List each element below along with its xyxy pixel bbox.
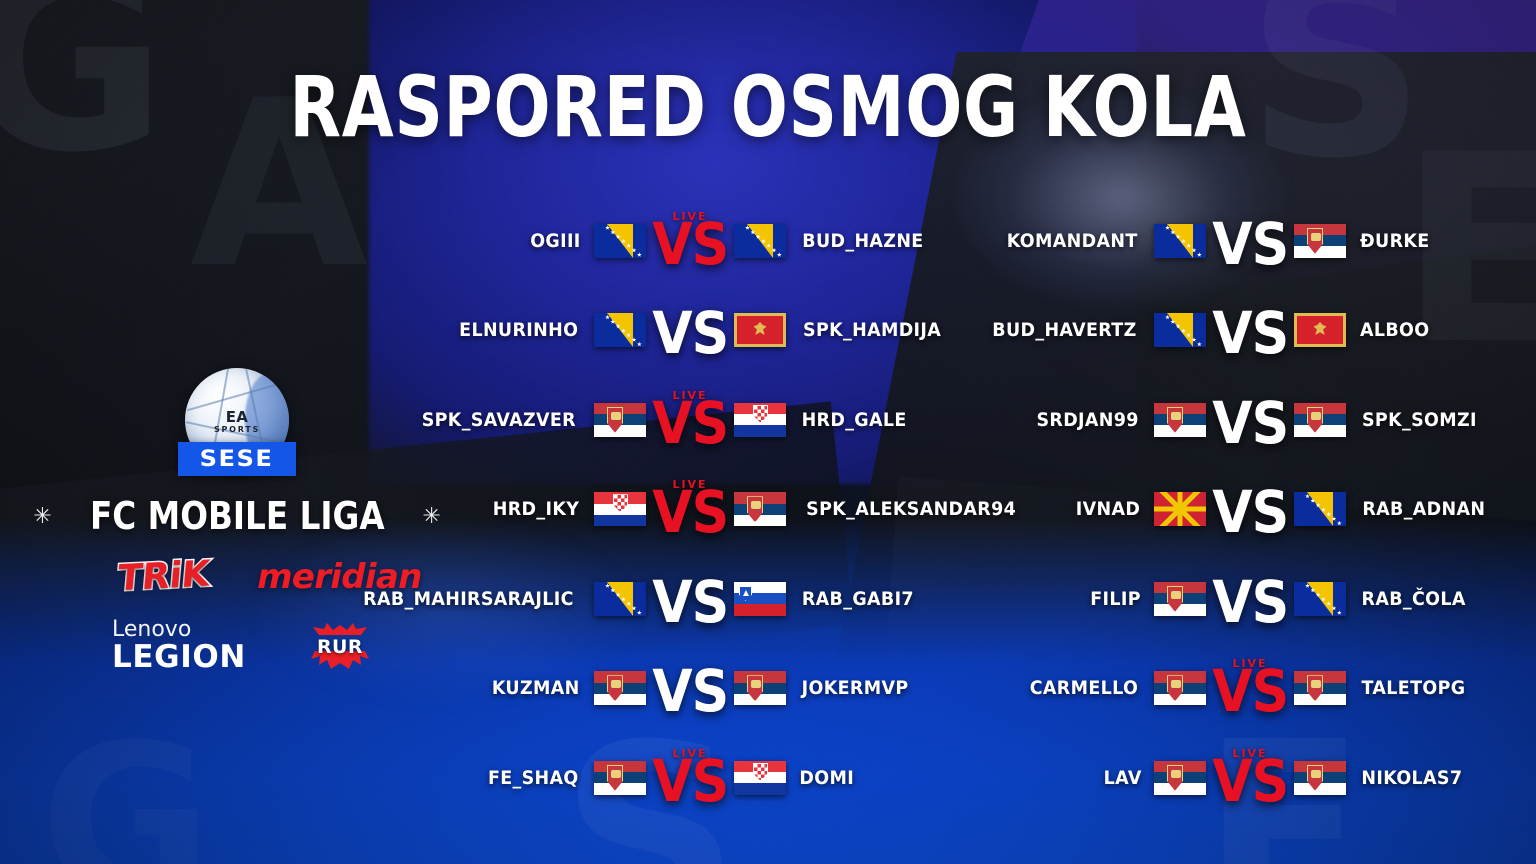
player-name: JOKERMVP <box>802 677 909 699</box>
versus-label: VS <box>1212 486 1288 539</box>
versus-label: VS <box>652 665 728 718</box>
flag-serbia-icon <box>734 492 786 526</box>
player-name: IVNAD <box>1076 498 1140 520</box>
versus-label: VS <box>652 397 728 450</box>
match-row[interactable]: FILIPLIVEVSRAB_ČOLA <box>990 554 1510 644</box>
flag-north-macedonia-icon <box>1154 492 1206 526</box>
match-side-away: SPK_SOMZI <box>1294 403 1510 437</box>
player-name: CARMELLO <box>1030 677 1138 699</box>
player-name: OGIII <box>530 230 580 252</box>
flag-serbia-icon <box>594 761 646 795</box>
versus-label: VS <box>652 486 728 539</box>
player-name: ĐURKE <box>1360 230 1430 252</box>
match-side-away: HRD_GALE <box>734 403 950 437</box>
flag-serbia-icon <box>1154 582 1206 616</box>
match-side-home: CARMELLO <box>990 671 1206 705</box>
ea-sports-subtext: SPORTS <box>185 426 289 434</box>
match-row[interactable]: FE_SHAQLIVEVSDOMI <box>430 733 950 823</box>
match-side-home: KUZMAN <box>430 671 646 705</box>
match-column-right: KOMANDANTLIVEVSĐURKEBUD_HAVERTZLIVEVSALB… <box>990 196 1510 823</box>
match-side-away: RAB_GABI7 <box>734 582 950 616</box>
flag-serbia-icon <box>594 403 646 437</box>
match-side-away: TALETOPG <box>1294 671 1510 705</box>
rur-wordmark: RUR <box>317 636 363 658</box>
player-name: NIKOLAS7 <box>1361 767 1462 789</box>
sponsor-lenovo-legion-logo: Lenovo LEGION <box>112 619 246 674</box>
player-name: BUD_HAZNE <box>802 230 923 252</box>
match-row[interactable]: HRD_IKYLIVEVSSPK_ALEKSANDAR94 <box>430 465 950 555</box>
ea-logo: EA SPORTS <box>185 410 289 434</box>
flag-bosnia-icon <box>594 582 646 616</box>
ea-logo-text: EA <box>226 408 248 426</box>
match-side-away: ĐURKE <box>1294 224 1510 258</box>
match-side-home: HRD_IKY <box>430 492 646 526</box>
versus-block: LIVEVS <box>646 748 734 808</box>
match-row[interactable]: KOMANDANTLIVEVSĐURKE <box>990 196 1510 286</box>
player-name: DOMI <box>799 767 854 789</box>
ea-sports-ball-icon: EA SPORTS SESE <box>185 368 289 472</box>
versus-label: VS <box>1212 665 1288 718</box>
player-name: KUZMAN <box>491 677 579 699</box>
match-side-home: BUD_HAVERTZ <box>990 313 1206 347</box>
match-side-home: RAB_MAHIRSARAJLIC <box>430 582 646 616</box>
versus-block: LIVEVS <box>646 300 734 360</box>
flag-bosnia-icon <box>1154 224 1206 258</box>
match-row[interactable]: CARMELLOLIVEVSTALETOPG <box>990 644 1510 734</box>
sponsor-block: TRiK meridian Lenovo LEGION RUR <box>100 556 420 674</box>
match-row[interactable]: OGIIILIVEVSBUD_HAZNE <box>430 196 950 286</box>
match-side-home: FE_SHAQ <box>430 761 646 795</box>
versus-block: LIVEVS <box>1206 390 1294 450</box>
match-side-home: FILIP <box>990 582 1206 616</box>
versus-block: LIVEVS <box>1206 569 1294 629</box>
match-side-away: NIKOLAS7 <box>1294 761 1510 795</box>
flag-bosnia-icon <box>594 313 646 347</box>
versus-block: LIVEVS <box>646 390 734 450</box>
match-side-away: RAB_ČOLA <box>1294 582 1510 616</box>
flag-bosnia-icon <box>1294 492 1346 526</box>
flag-serbia-icon <box>1294 761 1346 795</box>
flag-croatia-icon <box>594 492 646 526</box>
league-name-row: ✳ FC MOBILE LIGA ✳ <box>42 494 432 538</box>
player-name: ELNURINHO <box>459 319 578 341</box>
match-row[interactable]: BUD_HAVERTZLIVEVSALBOO <box>990 286 1510 376</box>
league-name: FC MOBILE LIGA <box>90 494 385 538</box>
versus-block: LIVEVS <box>1206 211 1294 271</box>
versus-block: LIVEVS <box>1206 658 1294 718</box>
player-name: FILIP <box>1090 588 1141 610</box>
match-row[interactable]: LAVLIVEVSNIKOLAS7 <box>990 733 1510 823</box>
player-name: RAB_MAHIRSARAJLIC <box>363 588 574 610</box>
flag-montenegro-icon <box>1294 313 1346 347</box>
player-name: RAB_ADNAN <box>1362 498 1485 520</box>
flag-serbia-icon <box>1154 761 1206 795</box>
player-name: SPK_ALEKSANDAR94 <box>806 498 1016 520</box>
match-row[interactable]: IVNADLIVEVSRAB_ADNAN <box>990 465 1510 555</box>
player-name: HRD_IKY <box>493 498 579 520</box>
match-side-away: JOKERMVP <box>734 671 950 705</box>
versus-label: VS <box>652 576 728 629</box>
versus-label: VS <box>1212 218 1288 271</box>
league-logo-block: EA SPORTS SESE ✳ FC MOBILE LIGA ✳ <box>42 368 432 538</box>
match-side-away: RAB_ADNAN <box>1294 492 1510 526</box>
match-row[interactable]: KUZMANLIVEVSJOKERMVP <box>430 644 950 734</box>
match-row[interactable]: RAB_MAHIRSARAJLICLIVEVSRAB_GABI7 <box>430 554 950 644</box>
player-name: SPK_HAMDIJA <box>803 319 941 341</box>
flag-serbia-icon <box>1294 671 1346 705</box>
versus-label: VS <box>652 307 728 360</box>
versus-block: LIVEVS <box>646 569 734 629</box>
flag-montenegro-icon <box>734 313 786 347</box>
versus-block: LIVEVS <box>1206 479 1294 539</box>
player-name: FE_SHAQ <box>488 767 579 789</box>
versus-label: VS <box>1212 397 1288 450</box>
match-column-left: OGIIILIVEVSBUD_HAZNEELNURINHOLIVEVSSPK_H… <box>430 196 950 823</box>
flag-serbia-icon <box>1294 224 1346 258</box>
versus-block: LIVEVS <box>1206 748 1294 808</box>
player-name: TALETOPG <box>1362 677 1466 699</box>
sese-banner-text: SESE <box>200 447 274 472</box>
page-title: RASPORED OSMOG KOLA <box>154 58 1383 156</box>
sponsor-rur-logo: RUR <box>304 620 376 672</box>
match-side-home: KOMANDANT <box>990 224 1206 258</box>
player-name: ALBOO <box>1360 319 1429 341</box>
match-side-home: SRDJAN99 <box>990 403 1206 437</box>
player-name: SPK_SOMZI <box>1362 409 1477 431</box>
versus-label: VS <box>1212 755 1288 808</box>
match-side-away: SPK_HAMDIJA <box>734 313 950 347</box>
flag-serbia-icon <box>1154 671 1206 705</box>
versus-label: VS <box>1212 307 1288 360</box>
player-name: RAB_GABI7 <box>802 588 914 610</box>
player-name: SRDJAN99 <box>1036 409 1138 431</box>
versus-block: LIVEVS <box>646 211 734 271</box>
versus-label: VS <box>652 218 728 271</box>
match-row[interactable]: SRDJAN99LIVEVSSPK_SOMZI <box>990 375 1510 465</box>
match-side-away: ALBOO <box>1294 313 1510 347</box>
flag-serbia-icon <box>594 671 646 705</box>
versus-block: LIVEVS <box>646 479 734 539</box>
match-side-home: IVNAD <box>990 492 1206 526</box>
player-name: KOMANDANT <box>1006 230 1137 252</box>
match-side-away: SPK_ALEKSANDAR94 <box>734 492 950 526</box>
match-row[interactable]: SPK_SAVAZVERLIVEVSHRD_GALE <box>430 375 950 465</box>
sponsor-row-bottom: Lenovo LEGION RUR <box>100 619 420 674</box>
match-side-home: OGIII <box>430 224 646 258</box>
legion-wordmark: LEGION <box>112 639 246 675</box>
schedule-graphic: G A S E S E G RASPORED OSMOG KOLA EA SPO… <box>0 0 1536 864</box>
sponsor-trik-logo: TRiK <box>116 554 211 600</box>
flag-serbia-icon <box>1154 403 1206 437</box>
match-side-away: DOMI <box>734 761 950 795</box>
match-side-home: SPK_SAVAZVER <box>430 403 646 437</box>
player-name: RAB_ČOLA <box>1362 588 1466 610</box>
flag-serbia-icon <box>1294 403 1346 437</box>
flag-bosnia-icon <box>1294 582 1346 616</box>
player-name: HRD_GALE <box>802 409 907 431</box>
sese-banner: SESE <box>178 442 296 476</box>
versus-block: LIVEVS <box>1206 300 1294 360</box>
player-name: SPK_SAVAZVER <box>422 409 576 431</box>
flag-serbia-icon <box>734 671 786 705</box>
ornament-left-icon: ✳ <box>33 505 51 527</box>
player-name: LAV <box>1103 767 1141 789</box>
flag-bosnia-icon <box>594 224 646 258</box>
versus-block: LIVEVS <box>646 658 734 718</box>
match-side-home: ELNURINHO <box>430 313 646 347</box>
flag-croatia-icon <box>734 403 786 437</box>
flag-bosnia-icon <box>734 224 786 258</box>
versus-label: VS <box>652 755 728 808</box>
flag-bosnia-icon <box>1154 313 1206 347</box>
flag-croatia-icon <box>734 761 786 795</box>
versus-label: VS <box>1212 576 1288 629</box>
player-name: BUD_HAVERTZ <box>992 319 1136 341</box>
match-side-away: BUD_HAZNE <box>734 224 950 258</box>
match-row[interactable]: ELNURINHOLIVEVSSPK_HAMDIJA <box>430 286 950 376</box>
flag-slovenia-icon <box>734 582 786 616</box>
match-side-home: LAV <box>990 761 1206 795</box>
